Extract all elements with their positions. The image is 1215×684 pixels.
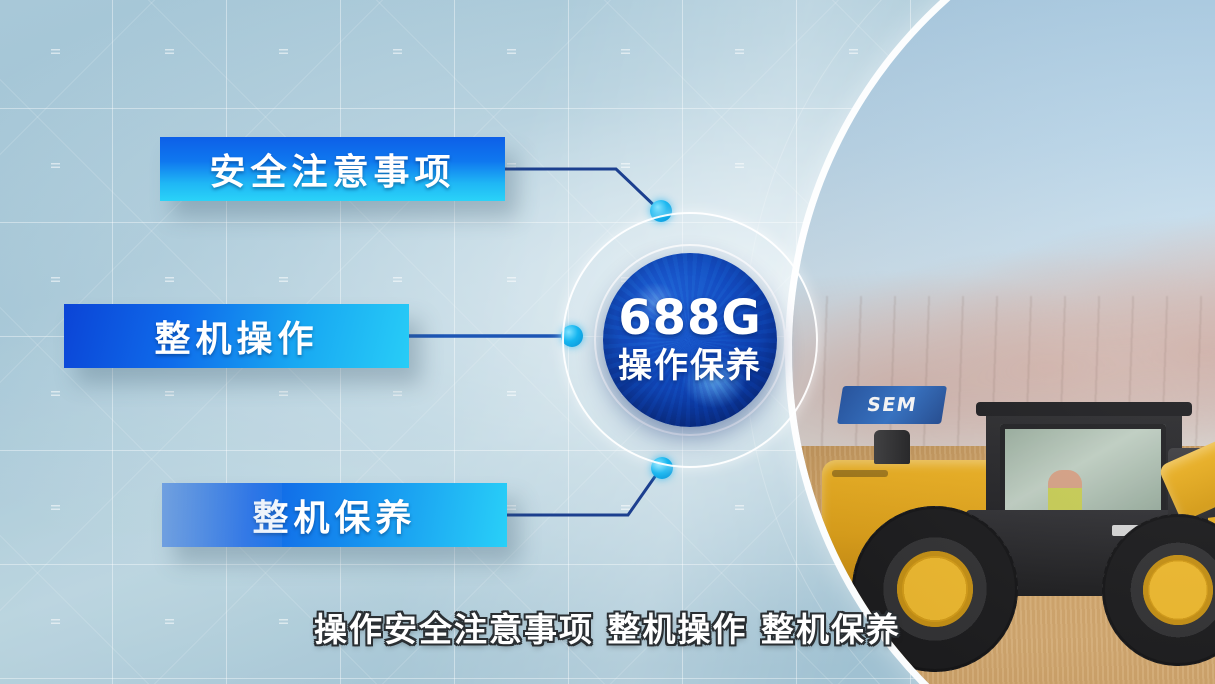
menu-button-maintenance[interactable]: 整机保养 xyxy=(162,483,507,547)
menu-button-safety-label: 安全注意事项 xyxy=(209,143,455,195)
menu-button-safety[interactable]: 安全注意事项 xyxy=(160,137,505,201)
center-hub[interactable]: 688G 操作保养 xyxy=(562,212,818,468)
menu-button-maintenance-label: 整机保养 xyxy=(252,489,416,541)
connector-line-1 xyxy=(505,169,660,211)
hub-model-code: 688G xyxy=(618,294,762,342)
menu-button-operation-label: 整机操作 xyxy=(154,310,318,362)
hub-sphere: 688G 操作保养 xyxy=(603,253,777,427)
slide-root: SEM 山工机械 688G xyxy=(0,0,1215,684)
caption-subtitle: 操作安全注意事项 整机操作 整机保养 xyxy=(0,603,1215,651)
menu-button-operation[interactable]: 整机操作 xyxy=(64,304,409,368)
connector-line-3 xyxy=(507,468,661,515)
hub-subtitle: 操作保养 xyxy=(618,347,762,385)
